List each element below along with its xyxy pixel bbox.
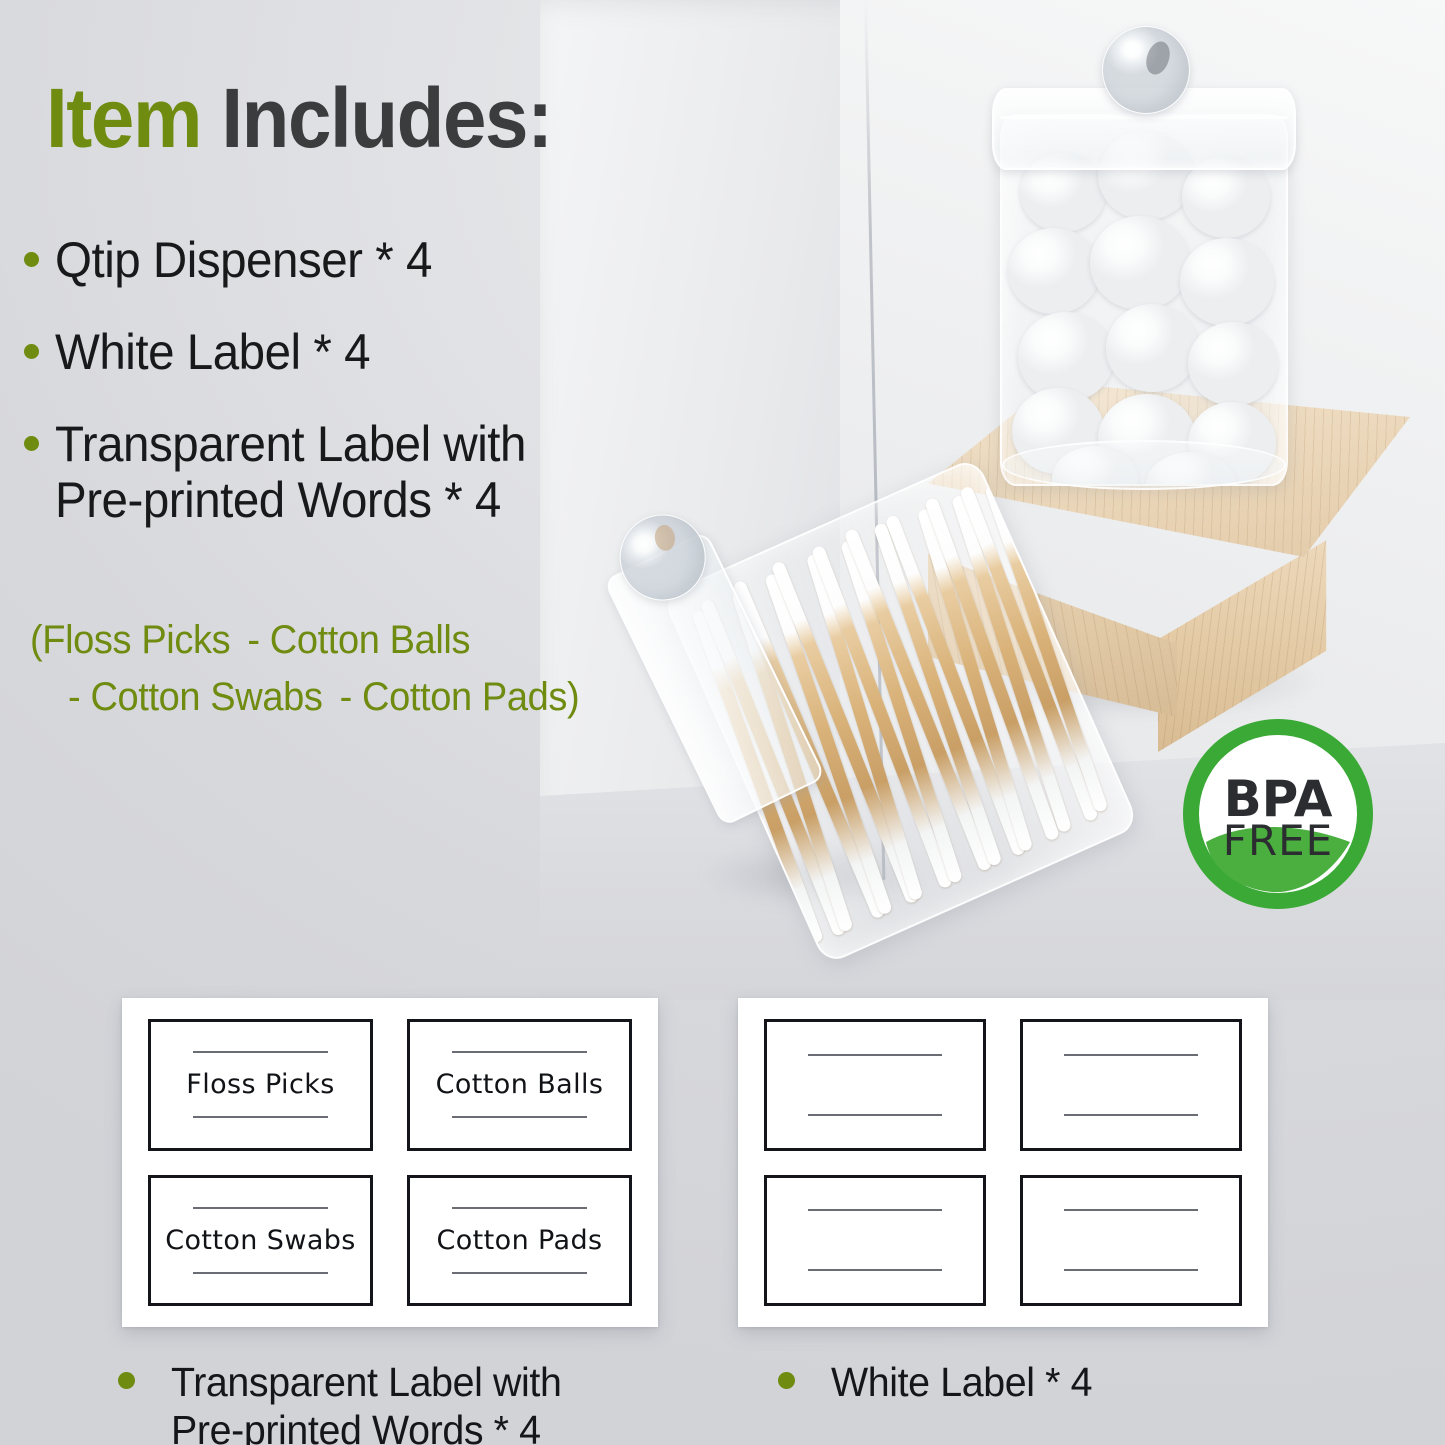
label-box xyxy=(1020,1019,1242,1151)
bullet-dot-icon xyxy=(24,344,39,359)
label-cell: Floss Picks xyxy=(134,1010,387,1160)
list-item: Qtip Dispenser * 4 xyxy=(20,232,680,288)
label-text: Cotton Pads xyxy=(437,1225,603,1256)
bullet-dot-icon xyxy=(24,252,39,267)
caption-text: White Label * 4 xyxy=(831,1358,1092,1406)
label-rule-bottom xyxy=(808,1114,942,1116)
note-close-paren: ) xyxy=(567,675,579,719)
label-cell xyxy=(1006,1166,1256,1316)
label-box xyxy=(764,1019,986,1151)
bullet-dot-icon xyxy=(24,436,39,451)
bpa-free-badge: BPA FREE xyxy=(1180,716,1376,912)
item-includes-list: Qtip Dispenser * 4 White Label * 4 Trans… xyxy=(20,232,680,564)
label-rule-bottom xyxy=(1064,1114,1198,1116)
label-box: Cotton Balls xyxy=(407,1019,632,1151)
list-item-label: Qtip Dispenser * 4 xyxy=(55,232,432,288)
page-title: Item Includes: xyxy=(46,76,552,160)
label-rule-bottom xyxy=(452,1272,588,1274)
label-text: Floss Picks xyxy=(186,1069,334,1100)
page-title-green: Item xyxy=(46,71,201,165)
note-open-paren: ( xyxy=(30,618,42,662)
bullet-dot-icon xyxy=(118,1372,135,1389)
list-item: White Label * 4 xyxy=(20,324,680,380)
cotton-ball-jar xyxy=(992,22,1292,482)
label-cell: Cotton Balls xyxy=(393,1010,646,1160)
label-rule-top xyxy=(452,1207,588,1209)
label-box: Cotton Pads xyxy=(407,1175,632,1307)
page-title-dark: Includes: xyxy=(221,71,551,165)
note-cotton-balls: - Cotton Balls xyxy=(247,618,470,662)
label-rule-bottom xyxy=(1064,1269,1198,1271)
label-box: Cotton Swabs xyxy=(148,1175,373,1307)
label-rule-top xyxy=(452,1051,588,1053)
label-rule-top xyxy=(1064,1209,1198,1211)
label-cell: Cotton Swabs xyxy=(134,1166,387,1316)
label-rule-top xyxy=(1064,1054,1198,1056)
label-text: Cotton Balls xyxy=(436,1069,604,1100)
cotton-ball-jar-knob xyxy=(1102,26,1190,114)
label-box: Floss Picks xyxy=(148,1019,373,1151)
bullet-dot-icon xyxy=(778,1372,795,1389)
label-cell xyxy=(750,1166,1000,1316)
cotton-ball-jar-base xyxy=(1002,440,1286,490)
note-cotton-pads: - Cotton Pads xyxy=(340,675,567,719)
preprinted-words-note: (Floss Picks- Cotton Balls - Cotton Swab… xyxy=(30,612,638,726)
list-item: Transparent Label with Pre-printed Words… xyxy=(20,416,680,528)
label-rule-top xyxy=(808,1209,942,1211)
label-cell: Cotton Pads xyxy=(393,1166,646,1316)
label-rule-bottom xyxy=(808,1269,942,1271)
list-item-label: Transparent Label with Pre-printed Words… xyxy=(55,416,526,528)
label-rule-top xyxy=(193,1207,329,1209)
label-rule-top xyxy=(808,1054,942,1056)
label-cell xyxy=(1006,1010,1256,1160)
label-rule-top xyxy=(193,1051,329,1053)
label-rule-bottom xyxy=(193,1272,329,1274)
note-floss-picks: Floss Picks xyxy=(42,618,230,662)
label-text: Cotton Swabs xyxy=(165,1225,356,1256)
white-label-caption: White Label * 4 xyxy=(778,1358,1198,1406)
infographic-canvas: Item Includes: Qtip Dispenser * 4 White … xyxy=(0,0,1445,1445)
caption-text: Transparent Label with Pre-printed Words… xyxy=(171,1358,561,1445)
label-box xyxy=(764,1175,986,1307)
transparent-label-caption: Transparent Label with Pre-printed Words… xyxy=(118,1358,698,1445)
transparent-label-sheet: Floss Picks Cotton Balls Cotton Swabs xyxy=(122,998,658,1327)
note-cotton-swabs: - Cotton Swabs xyxy=(68,675,322,719)
bpa-badge-line2: FREE xyxy=(1223,816,1333,865)
label-rule-bottom xyxy=(193,1116,329,1118)
label-rule-bottom xyxy=(452,1116,588,1118)
label-cell xyxy=(750,1010,1000,1160)
label-box xyxy=(1020,1175,1242,1307)
list-item-label: White Label * 4 xyxy=(55,324,370,380)
white-label-sheet xyxy=(738,998,1268,1327)
